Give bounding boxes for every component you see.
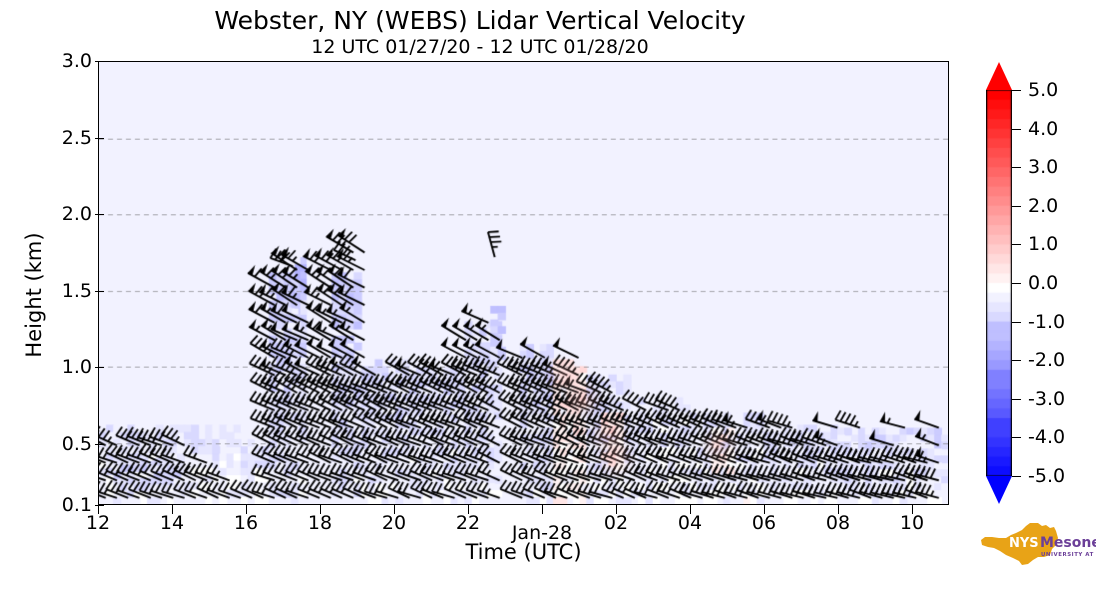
y-axis-tick-label: 2.5 — [20, 129, 92, 148]
y-axis-tick-label: 0.5 — [20, 435, 92, 454]
colorbar-extend-min-arrow — [986, 476, 1012, 504]
colorbar-tick-label: -1.0 — [1028, 313, 1090, 332]
logo-tagline-text: UNIVERSITY AT ALBANY — [1041, 552, 1096, 558]
nys-mesonet-logo: NYS Mesonet UNIVERSITY AT ALBANY — [978, 521, 1096, 573]
logo-mesonet-text: Mesonet — [1040, 535, 1096, 551]
colorbar-tick-mark — [1012, 206, 1021, 207]
y-axis-tick-mark — [95, 61, 104, 62]
y-axis-tick-label: 0.1 — [20, 496, 92, 515]
colorbar-tick-label: 5.0 — [1028, 81, 1090, 100]
colorbar-tick-label: -2.0 — [1028, 351, 1090, 370]
colorbar-extend-max-arrow — [986, 62, 1012, 90]
colorbar-tick-mark — [1012, 437, 1021, 438]
colorbar-tick-mark — [1012, 476, 1021, 477]
y-axis-tick-mark — [95, 291, 104, 292]
colorbar-tick-label: 2.0 — [1028, 197, 1090, 216]
colorbar-tick-mark — [1012, 90, 1021, 91]
nys-mesonet-logo-svg: NYS Mesonet UNIVERSITY AT ALBANY — [978, 521, 1096, 573]
lidar-vertical-velocity-field — [99, 62, 948, 504]
colorbar-tick-label: 0.0 — [1028, 274, 1090, 293]
colorbar: 5.04.03.02.01.00.0-1.0-2.0-3.0-4.0-5.0 — [986, 62, 1016, 504]
chart-subtitle: 12 UTC 01/27/20 - 12 UTC 01/28/20 — [0, 36, 960, 59]
colorbar-tick-mark — [1012, 129, 1021, 130]
x-axis-tick-mark — [542, 505, 543, 514]
colorbar-tick-label: 1.0 — [1028, 235, 1090, 254]
y-axis-tick-mark — [95, 367, 104, 368]
colorbar-tick-mark — [1012, 399, 1021, 400]
colorbar-tick-label: -3.0 — [1028, 390, 1090, 409]
colorbar-tick-mark — [1012, 244, 1021, 245]
y-axis: 0.10.51.01.52.02.53.0 — [6, 0, 92, 600]
y-axis-tick-mark — [95, 444, 104, 445]
colorbar-gradient — [986, 90, 1012, 476]
colorbar-tick-mark — [1012, 360, 1021, 361]
plot-area — [98, 61, 949, 505]
colorbar-tick-mark — [1012, 322, 1021, 323]
y-axis-tick-label: 3.0 — [20, 52, 92, 71]
y-axis-label: Height (km) — [22, 165, 46, 425]
colorbar-tick-label: -4.0 — [1028, 428, 1090, 447]
page-title: Webster, NY (WEBS) Lidar Vertical Veloci… — [0, 6, 960, 36]
logo-nys-text: NYS — [1009, 536, 1039, 551]
colorbar-tick-mark — [1012, 167, 1021, 168]
colorbar-tick-label: 3.0 — [1028, 158, 1090, 177]
x-axis-tick-label: 10 — [867, 514, 957, 533]
colorbar-tick-label: 4.0 — [1028, 120, 1090, 139]
colorbar-tick-mark — [1012, 283, 1021, 284]
y-axis-tick-mark — [95, 505, 104, 506]
y-axis-tick-mark — [95, 214, 104, 215]
colorbar-tick-label: -5.0 — [1028, 467, 1090, 486]
y-axis-tick-mark — [95, 138, 104, 139]
